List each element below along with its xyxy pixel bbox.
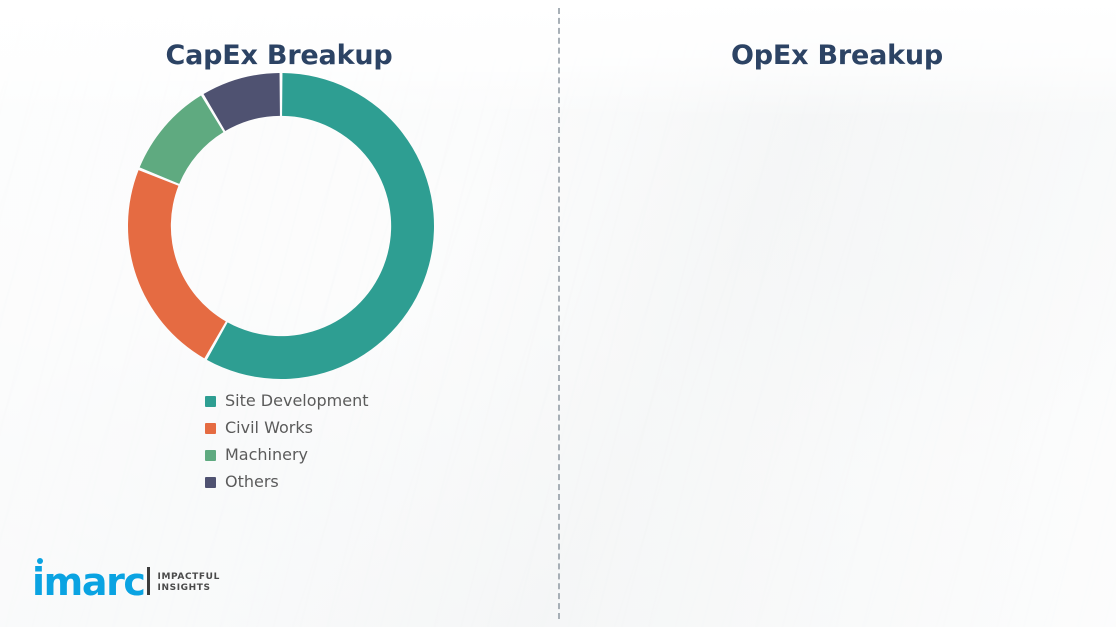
capex-donut-svg [125, 70, 437, 382]
logo-divider-bar [147, 567, 150, 595]
legend-label-machinery: Machinery [225, 444, 308, 466]
logo-tagline: IMPACTFUL INSIGHTS [158, 572, 220, 597]
legend-label-civil-works: Civil Works [225, 417, 313, 439]
logo-tagline-line1: IMPACTFUL [158, 572, 220, 583]
slide-stage: CapEx Breakup Site Development Civil Wor… [0, 0, 1116, 627]
logo-tagline-line2: INSIGHTS [158, 583, 220, 594]
legend-label-others: Others [225, 471, 279, 493]
legend-item[interactable]: Site Development [205, 390, 369, 412]
legend-item[interactable]: Others [205, 471, 369, 493]
legend-swatch-civil-works [205, 423, 216, 434]
capex-panel: CapEx Breakup Site Development Civil Wor… [0, 0, 558, 627]
legend-swatch-machinery [205, 450, 216, 461]
opex-panel: OpEx Breakup Raw Materials Salaries and … [558, 0, 1116, 627]
legend-item[interactable]: Civil Works [205, 417, 369, 439]
donut-slice[interactable] [140, 96, 224, 184]
legend-swatch-site-development [205, 396, 216, 407]
legend-swatch-others [205, 477, 216, 488]
legend-item[interactable]: Machinery [205, 444, 369, 466]
logo-word-text: imarc [32, 567, 145, 597]
logo-wordmark: imarc [32, 567, 145, 597]
capex-chart-title: CapEx Breakup [0, 40, 558, 71]
capex-legend: Site Development Civil Works Machinery O… [205, 390, 369, 498]
donut-slice[interactable] [128, 170, 226, 358]
capex-donut-chart [125, 70, 437, 382]
imarc-logo: imarc IMPACTFUL INSIGHTS [32, 567, 220, 597]
logo-dot-icon [37, 558, 43, 564]
opex-chart-title: OpEx Breakup [558, 40, 1116, 71]
legend-label-site-development: Site Development [225, 390, 369, 412]
